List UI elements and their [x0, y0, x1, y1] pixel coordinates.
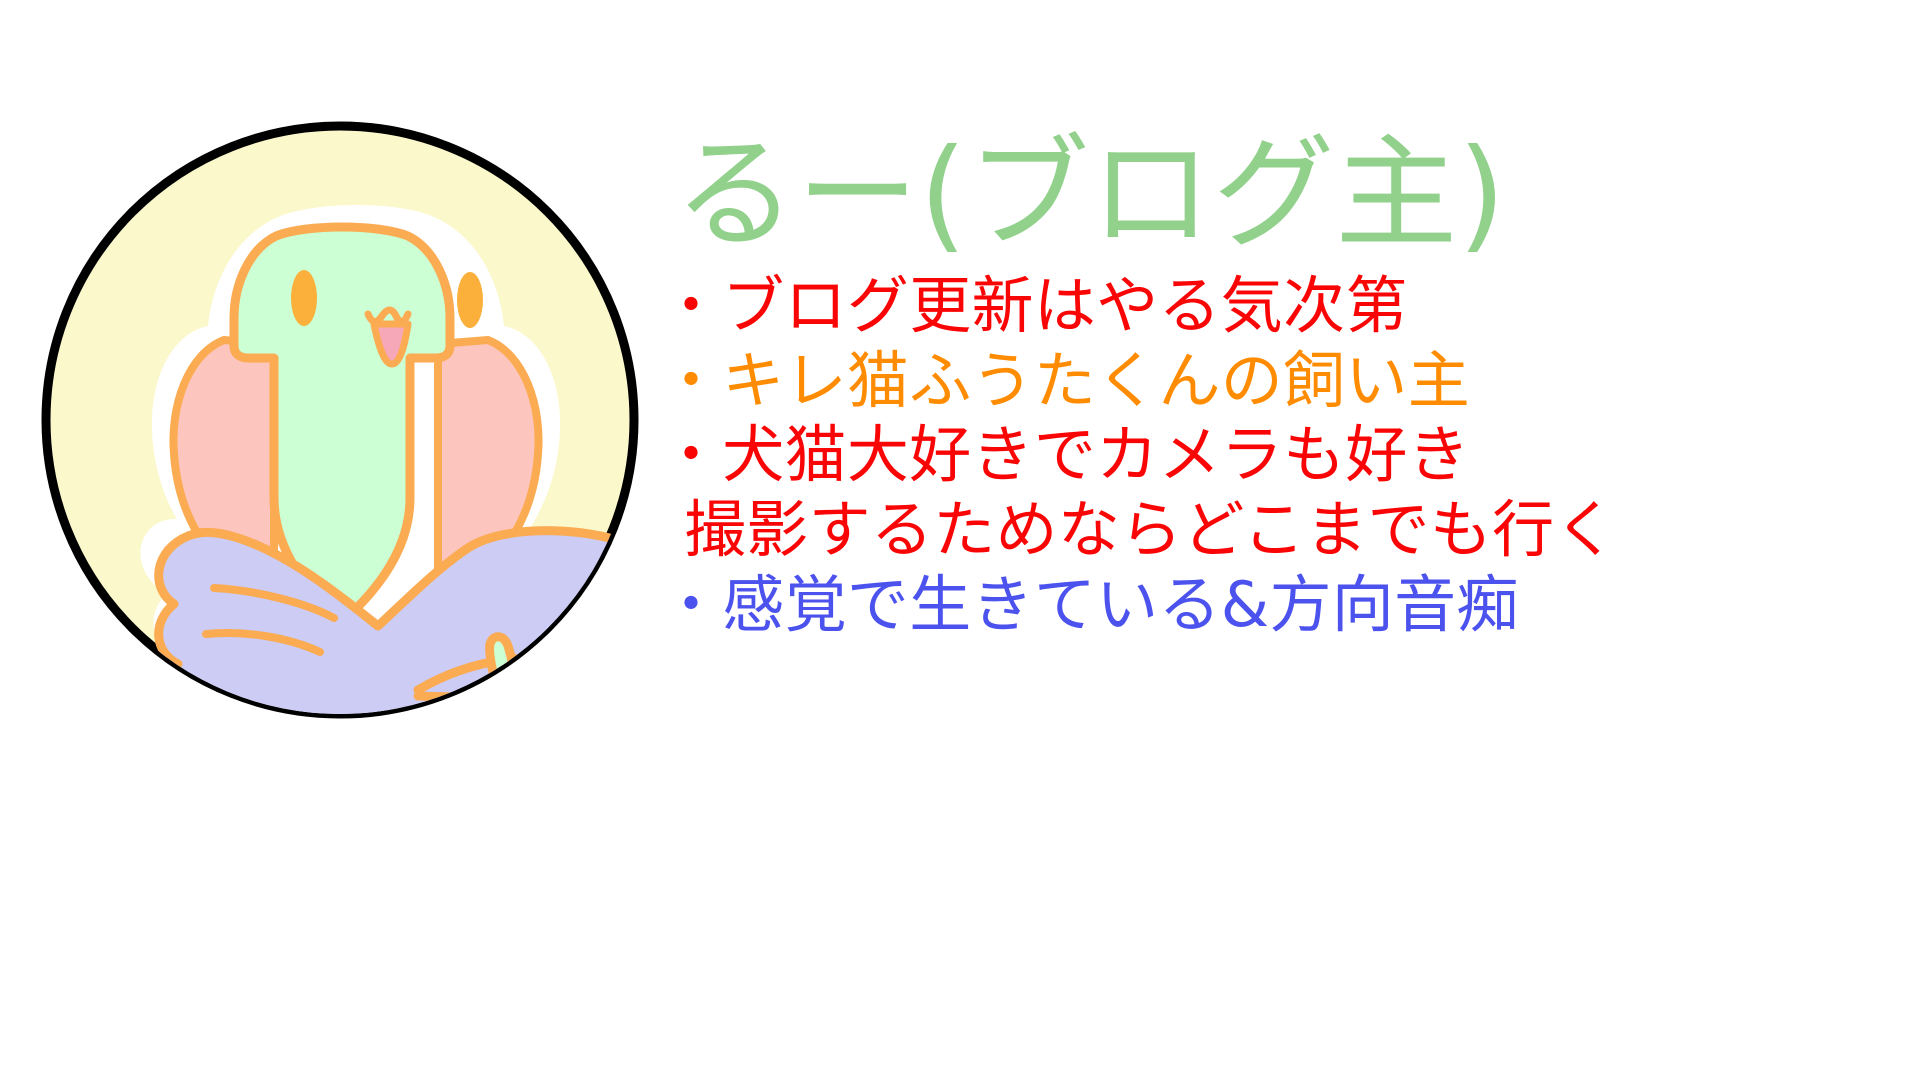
frog-avatar-icon [38, 118, 642, 722]
list-item: ・感覚で生きている&方向音痴 [660, 568, 1900, 643]
list-item: ・犬猫大好きでカメラも好き [660, 418, 1900, 493]
list-item: 撮影するためならどこまでも行く [660, 493, 1900, 568]
profile-card: るー(ブログ主) ・ブログ更新はやる気次第 ・キレ猫ふうたくんの飼い主 ・犬猫大… [0, 0, 1920, 1080]
frog-drawstring-1 [440, 716, 444, 722]
frog-eye-left [291, 270, 317, 326]
page-title: るー(ブログ主) [660, 120, 1900, 269]
frog-drawstring-3 [506, 714, 508, 722]
list-item: ・ブログ更新はやる気次第 [660, 269, 1900, 344]
frog-drawstring-4 [528, 716, 530, 722]
frog-drawstring-2 [462, 718, 466, 722]
frog-eye-right [457, 272, 483, 328]
profile-bullet-list: ・ブログ更新はやる気次第 ・キレ猫ふうたくんの飼い主 ・犬猫大好きでカメラも好き… [660, 269, 1900, 643]
list-item: ・キレ猫ふうたくんの飼い主 [660, 344, 1900, 419]
profile-text-column: るー(ブログ主) ・ブログ更新はやる気次第 ・キレ猫ふうたくんの飼い主 ・犬猫大… [660, 120, 1900, 642]
avatar [38, 118, 642, 722]
